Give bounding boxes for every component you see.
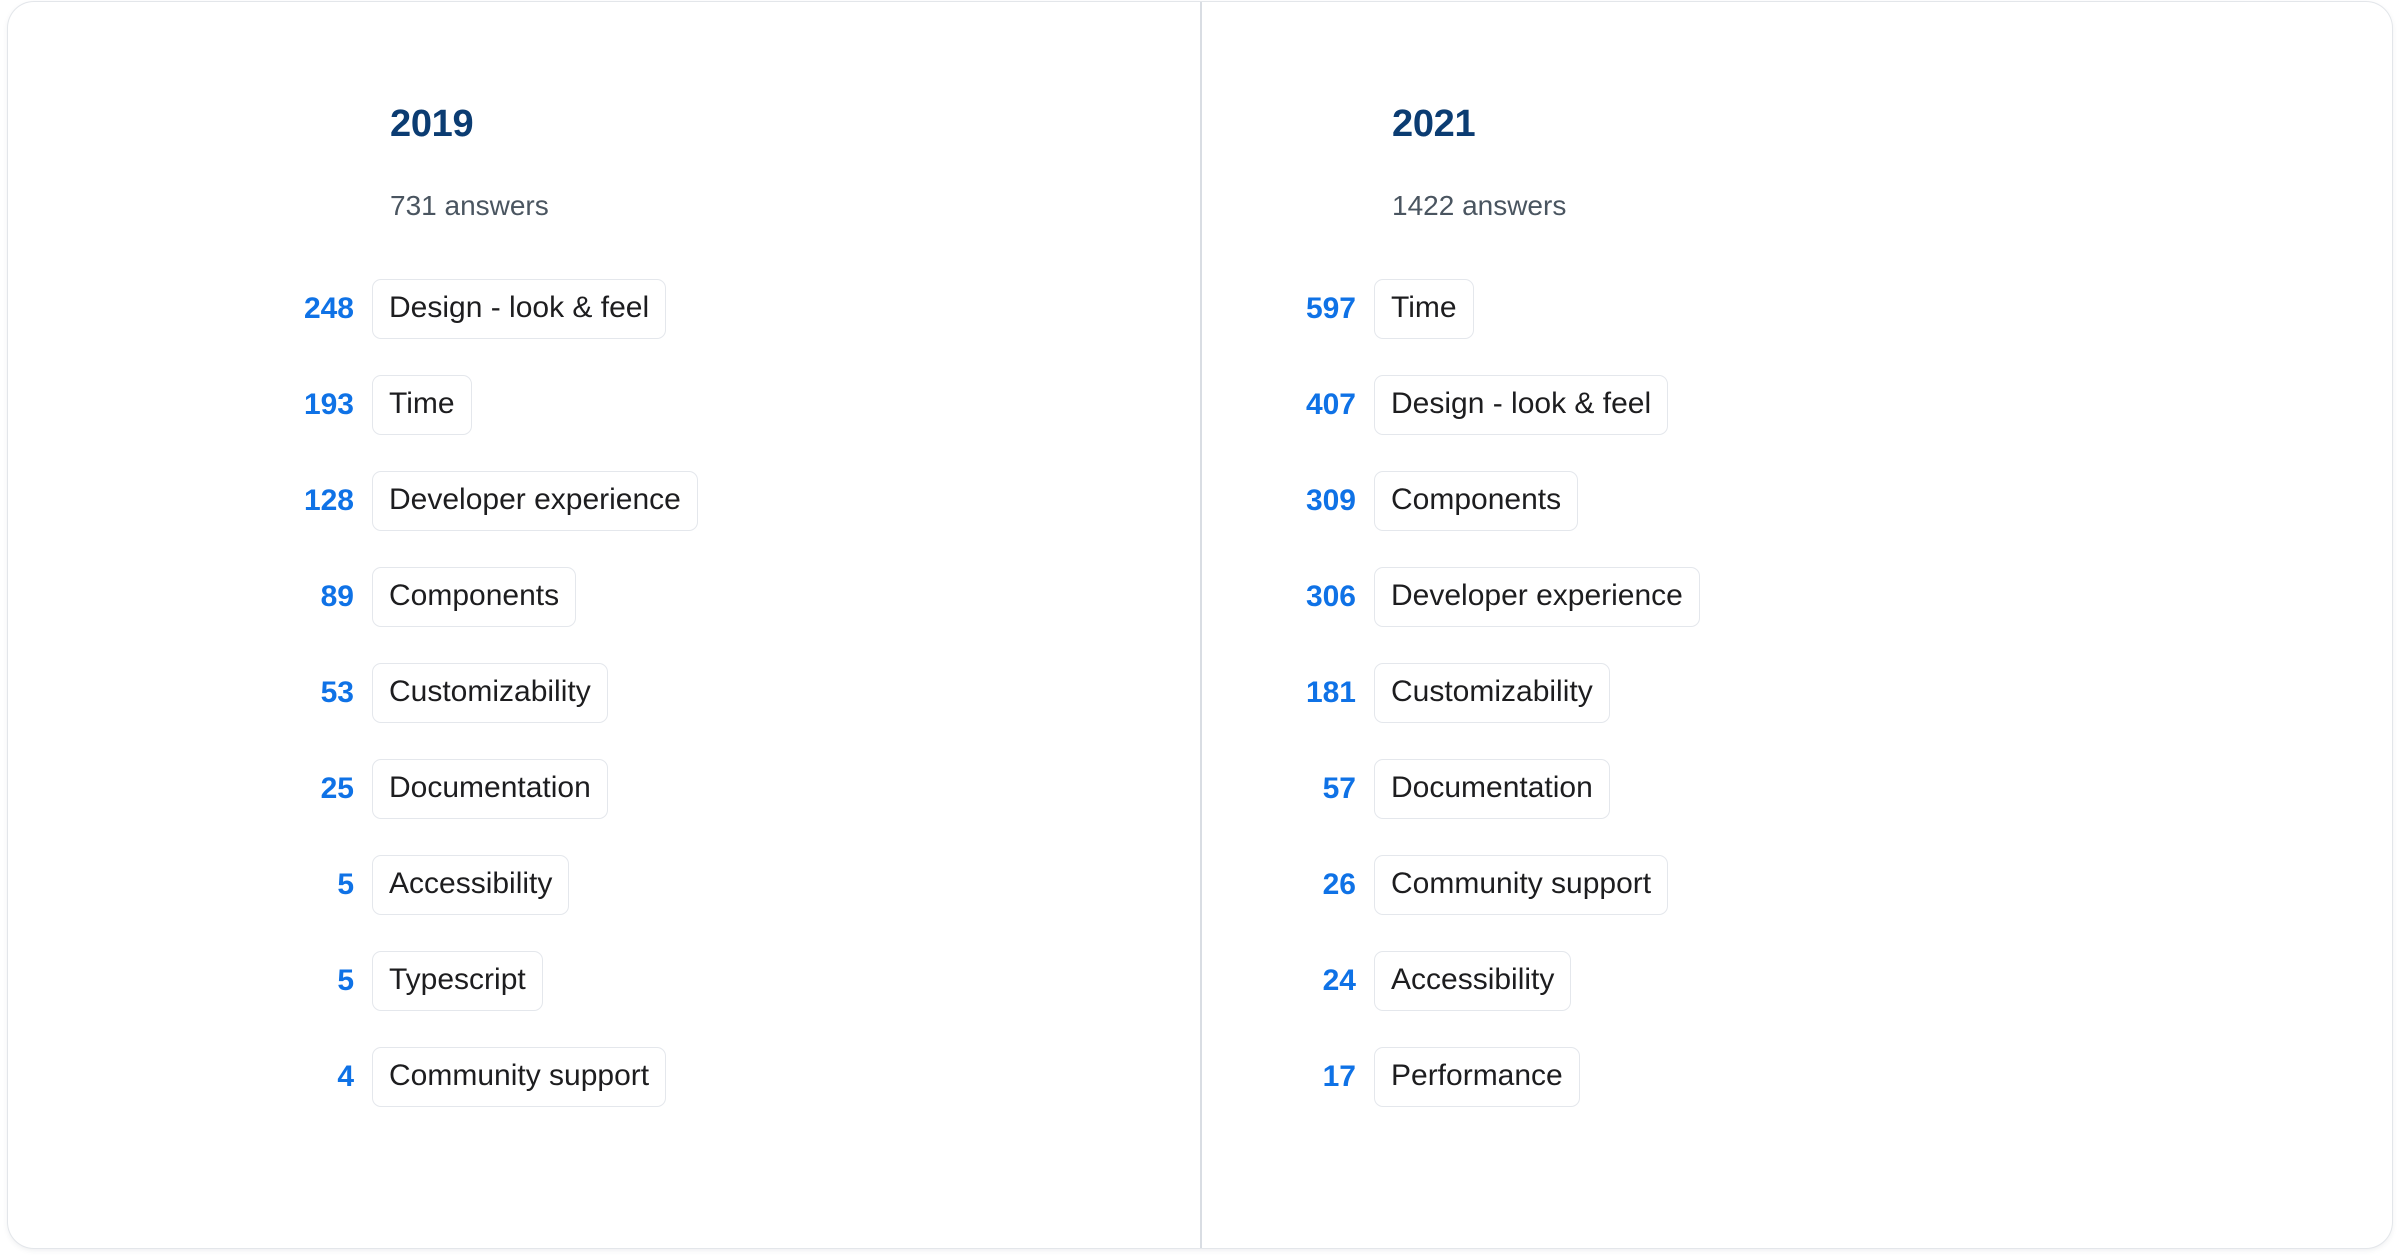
page-title-2019: 2019: [390, 105, 473, 143]
list-item[interactable]: 17 Performance: [1274, 1042, 1700, 1112]
list-item[interactable]: 89 Components: [272, 562, 698, 632]
list-item[interactable]: 26 Community support: [1274, 850, 1700, 920]
row-label[interactable]: Design - look & feel: [372, 279, 666, 339]
row-label[interactable]: Time: [372, 375, 472, 435]
row-count: 306: [1274, 582, 1374, 612]
row-count: 25: [272, 774, 372, 804]
panel-2019: 2019 731 answers 248 Design - look & fee…: [8, 2, 1200, 1248]
list-item[interactable]: 25 Documentation: [272, 754, 698, 824]
row-count: 597: [1274, 294, 1374, 324]
row-count: 4: [272, 1062, 372, 1092]
list-item[interactable]: 53 Customizability: [272, 658, 698, 728]
row-count: 24: [1274, 966, 1374, 996]
row-count: 248: [272, 294, 372, 324]
list-item[interactable]: 597 Time: [1274, 274, 1700, 344]
row-count: 407: [1274, 390, 1374, 420]
answers-count-2021: 1422 answers: [1392, 192, 1566, 220]
row-count: 57: [1274, 774, 1374, 804]
ranked-list-2019: 248 Design - look & feel 193 Time 128 De…: [272, 274, 698, 1138]
row-count: 17: [1274, 1062, 1374, 1092]
row-label[interactable]: Community support: [372, 1047, 666, 1107]
row-count: 193: [272, 390, 372, 420]
row-count: 89: [272, 582, 372, 612]
comparison-card: 2019 731 answers 248 Design - look & fee…: [8, 2, 2392, 1248]
list-item[interactable]: 5 Typescript: [272, 946, 698, 1016]
list-item[interactable]: 193 Time: [272, 370, 698, 440]
row-label[interactable]: Community support: [1374, 855, 1668, 915]
list-item[interactable]: 248 Design - look & feel: [272, 274, 698, 344]
panel-2021: 2021 1422 answers 597 Time 407 Design - …: [1200, 2, 2392, 1248]
row-count: 5: [272, 966, 372, 996]
row-label[interactable]: Documentation: [372, 759, 608, 819]
row-label[interactable]: Accessibility: [1374, 951, 1571, 1011]
list-item[interactable]: 57 Documentation: [1274, 754, 1700, 824]
answers-count-2019: 731 answers: [390, 192, 549, 220]
list-item[interactable]: 306 Developer experience: [1274, 562, 1700, 632]
list-item[interactable]: 407 Design - look & feel: [1274, 370, 1700, 440]
row-label[interactable]: Customizability: [372, 663, 608, 723]
list-item[interactable]: 309 Components: [1274, 466, 1700, 536]
row-count: 181: [1274, 678, 1374, 708]
row-label[interactable]: Developer experience: [372, 471, 698, 531]
list-item[interactable]: 5 Accessibility: [272, 850, 698, 920]
list-item[interactable]: 181 Customizability: [1274, 658, 1700, 728]
list-item[interactable]: 128 Developer experience: [272, 466, 698, 536]
row-label[interactable]: Performance: [1374, 1047, 1580, 1107]
row-label[interactable]: Design - look & feel: [1374, 375, 1668, 435]
row-count: 128: [272, 486, 372, 516]
row-count: 53: [272, 678, 372, 708]
row-label[interactable]: Accessibility: [372, 855, 569, 915]
page-title-2021: 2021: [1392, 105, 1475, 143]
row-label[interactable]: Typescript: [372, 951, 543, 1011]
row-count: 5: [272, 870, 372, 900]
row-label[interactable]: Components: [372, 567, 576, 627]
row-label[interactable]: Documentation: [1374, 759, 1610, 819]
list-item[interactable]: 24 Accessibility: [1274, 946, 1700, 1016]
row-label[interactable]: Time: [1374, 279, 1474, 339]
ranked-list-2021: 597 Time 407 Design - look & feel 309 Co…: [1274, 274, 1700, 1138]
row-label[interactable]: Components: [1374, 471, 1578, 531]
row-count: 309: [1274, 486, 1374, 516]
row-label[interactable]: Developer experience: [1374, 567, 1700, 627]
row-label[interactable]: Customizability: [1374, 663, 1610, 723]
row-count: 26: [1274, 870, 1374, 900]
list-item[interactable]: 4 Community support: [272, 1042, 698, 1112]
